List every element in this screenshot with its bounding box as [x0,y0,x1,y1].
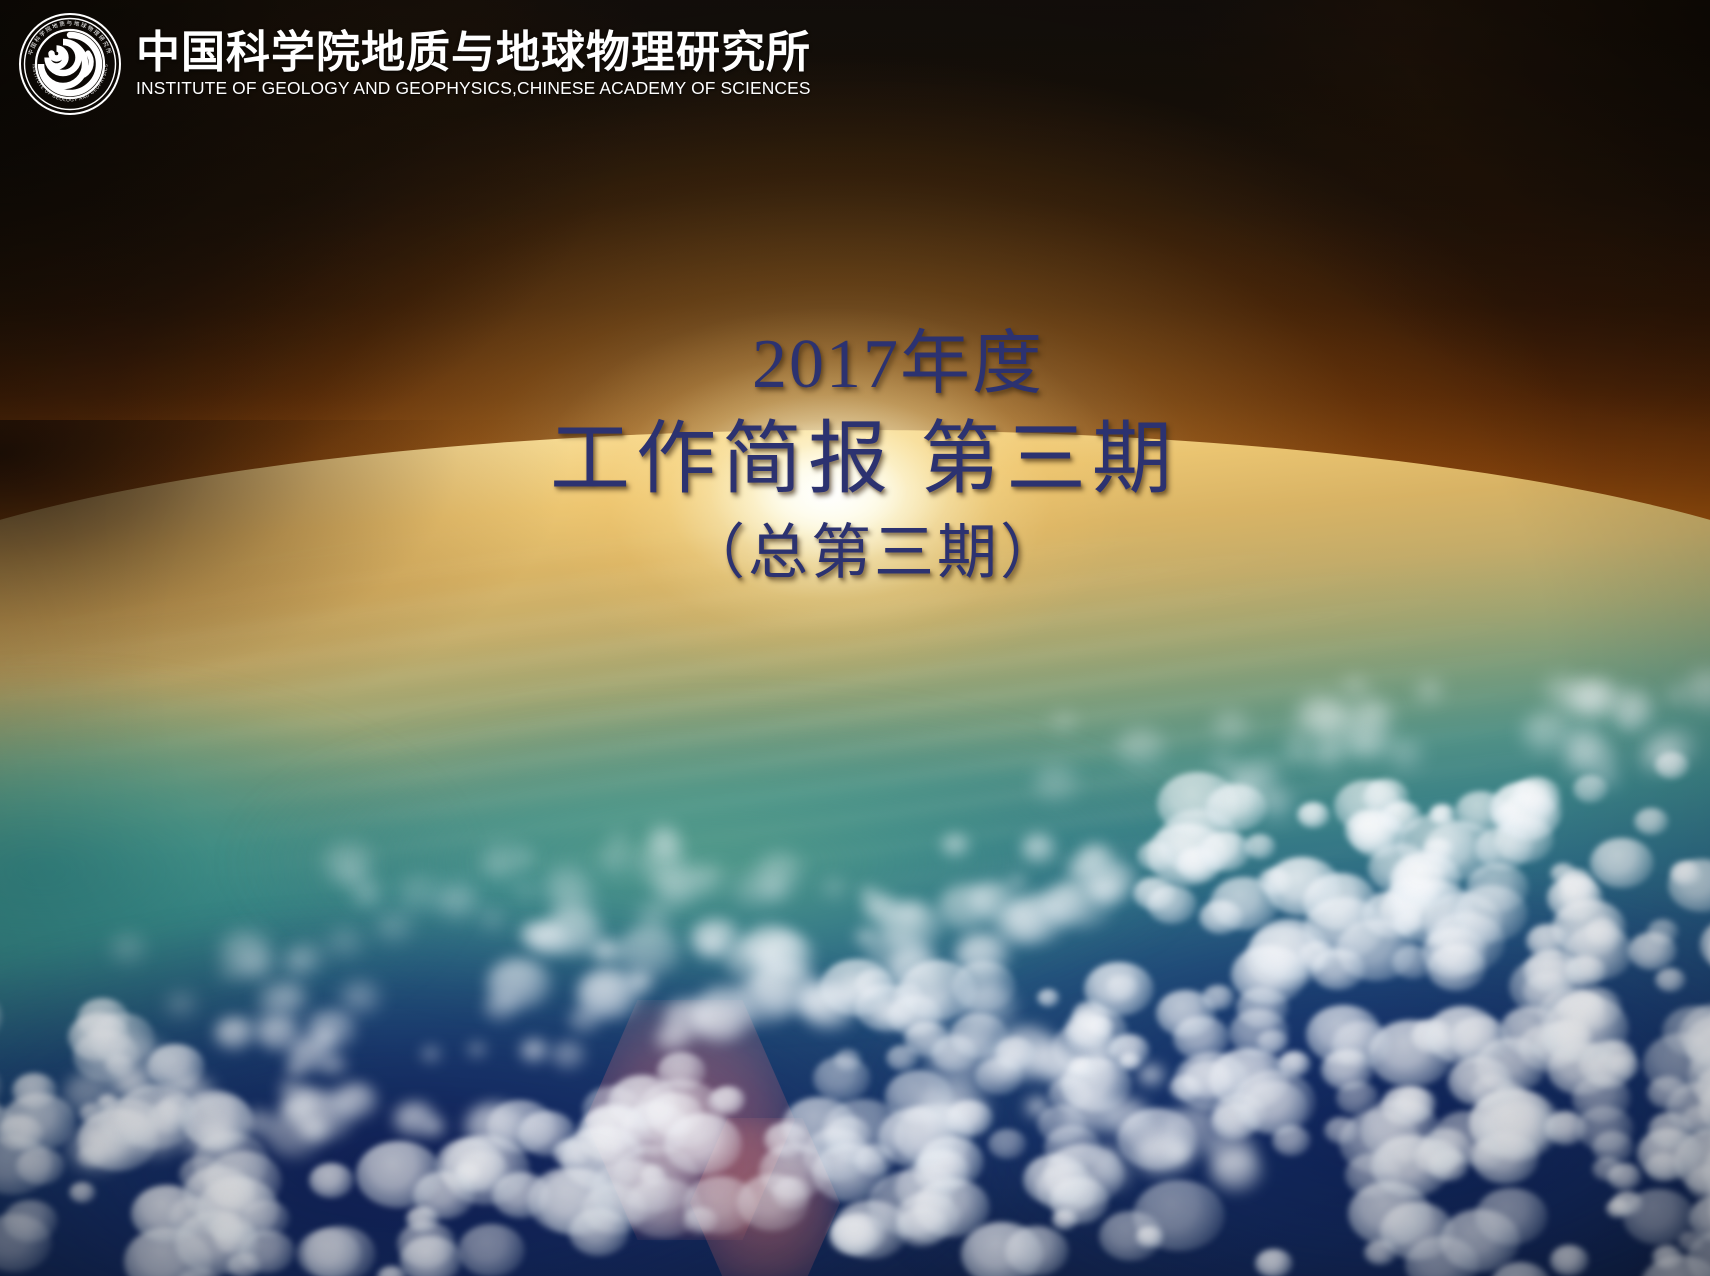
title-line-year: 2017年度 [86,330,1710,400]
institute-header: · 中国科学院地质与地球物理研究所 INSTITUTE OF GEOLOGY A… [18,12,811,116]
institute-brand-text: 中国科学院地质与地球物理研究所 INSTITUTE OF GEOLOGY AND… [136,30,811,98]
institute-name-cn: 中国科学院地质与地球物理研究所 [136,30,811,77]
iggcas-spiral-seal-logo-icon: · 中国科学院地质与地球物理研究所 INSTITUTE OF GEOLOGY A… [18,12,122,116]
presentation-slide: · 中国科学院地质与地球物理研究所 INSTITUTE OF GEOLOGY A… [0,0,1710,1276]
deep-ocean-right [821,880,1710,1276]
institute-name-en: INSTITUTE OF GEOLOGY AND GEOPHYSICS,CHIN… [136,79,811,98]
